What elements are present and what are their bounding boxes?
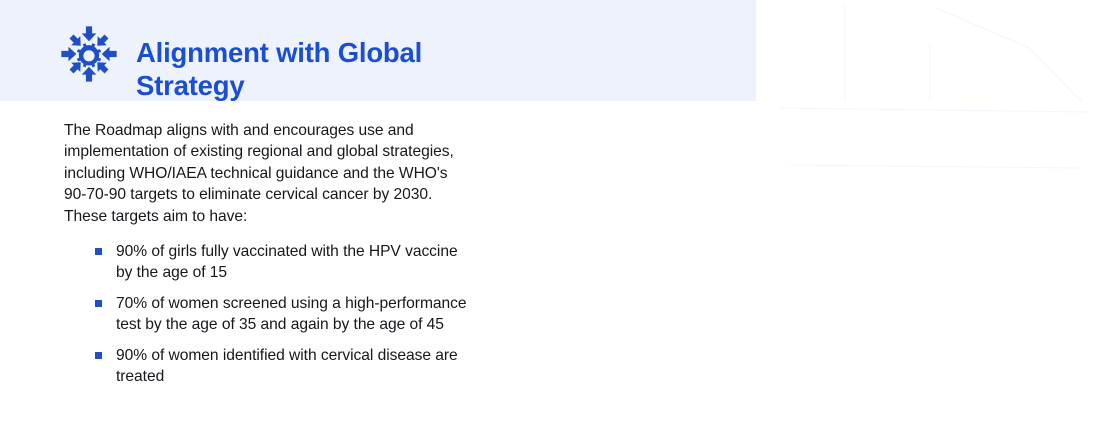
section-title: Alignment with Global Strategy: [136, 36, 676, 102]
intro-paragraph: The Roadmap aligns with and encourages u…: [64, 120, 564, 227]
targets-bullet-list: 90% of girls fully vaccinated with the H…: [95, 241, 565, 387]
intro-paragraph-line-4: 90-70-90 targets to eliminate cervical c…: [64, 184, 564, 205]
list-item: 90% of women identified with cervical di…: [95, 345, 565, 388]
intro-paragraph-line-1: The Roadmap aligns with and encourages u…: [64, 120, 564, 141]
alignment-convergence-gear-icon: [60, 25, 118, 83]
list-item: 90% of girls fully vaccinated with the H…: [95, 241, 565, 284]
list-item-text: 90% of girls fully vaccinated with the H…: [116, 241, 565, 284]
page-root: Alignment with Global Strategy The Roadm…: [0, 0, 1110, 448]
decorative-watermark: [760, 0, 1110, 210]
intro-paragraph-line-3: including WHO/IAEA technical guidance an…: [64, 163, 564, 184]
bullet-square-icon: [95, 352, 102, 359]
intro-paragraph-line-2: implementation of existing regional and …: [64, 141, 564, 162]
list-item: 70% of women screened using a high-perfo…: [95, 293, 565, 336]
section-header-band: Alignment with Global Strategy: [0, 0, 756, 101]
section-title-line-2: Strategy: [136, 69, 676, 102]
bullet-square-icon: [95, 300, 102, 307]
section-title-line-1: Alignment with Global: [136, 36, 676, 69]
intro-paragraph-line-5: These targets aim to have:: [64, 206, 564, 227]
list-item-text: 70% of women screened using a high-perfo…: [116, 293, 565, 336]
list-item-text: 90% of women identified with cervical di…: [116, 345, 565, 388]
bullet-square-icon: [95, 248, 102, 255]
